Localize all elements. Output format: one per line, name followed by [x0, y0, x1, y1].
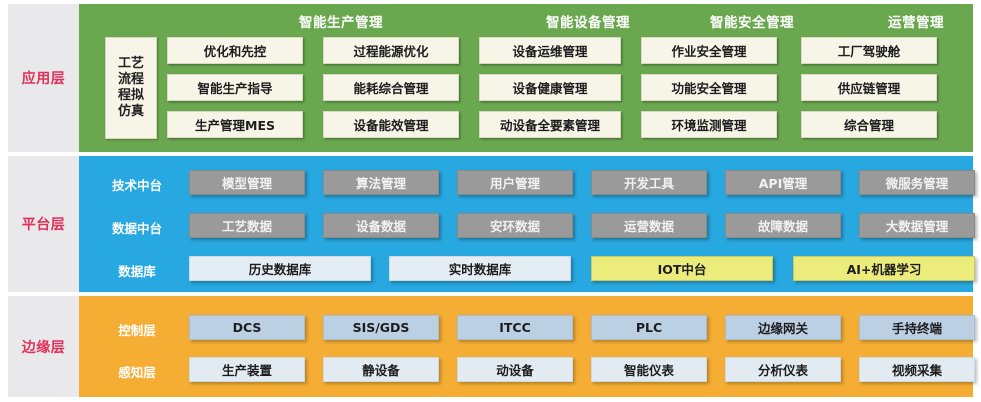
app-box[interactable]: 环境监测管理 [641, 111, 777, 138]
layer-label-application: 应用层 [8, 4, 79, 152]
platform-box[interactable]: API管理 [725, 170, 841, 195]
app-box[interactable]: 设备运维管理 [479, 37, 621, 64]
row-label-database: 数据库 [101, 261, 173, 280]
application-grid: 工艺 流程 程拟 仿真 优化和先控 智能生产指导 生产管理MES 过程能源优化 … [79, 37, 973, 144]
platform-box[interactable]: 故障数据 [725, 213, 841, 238]
app-box[interactable]: 设备能效管理 [323, 111, 459, 138]
iot-platform-box[interactable]: IOT中台 [591, 256, 773, 281]
control-box[interactable]: 边缘网关 [725, 315, 841, 340]
group-title-smart-equipment: 智能设备管理 [503, 11, 673, 31]
platform-box[interactable]: 安环数据 [457, 213, 573, 238]
layer-application: 应用层 智能生产管理 智能设备管理 智能安全管理 运营管理 工艺 流程 程拟 仿… [8, 4, 973, 152]
app-box[interactable]: 工厂驾驶舱 [801, 37, 937, 64]
row-label-data-platform: 数据中台 [101, 218, 173, 237]
sensing-box[interactable]: 视频采集 [859, 357, 975, 382]
sensing-box[interactable]: 动设备 [457, 357, 573, 382]
group-title-smart-safety: 智能安全管理 [667, 11, 837, 31]
app-box[interactable]: 智能生产指导 [167, 74, 303, 101]
layer-platform: 平台层 技术中台 数据中台 数据库 模型管理 算法管理 用户管理 开发工具 AP… [8, 156, 973, 292]
process-simulation-line-1: 工艺 [118, 56, 144, 72]
layer-body-edge: 控制层 感知层 DCS SIS/GDS ITCC PLC 边缘网关 手持终端 生… [79, 296, 973, 397]
row-label-sensing: 感知层 [101, 362, 173, 381]
sensing-box[interactable]: 静设备 [323, 357, 439, 382]
app-box[interactable]: 设备健康管理 [479, 74, 621, 101]
process-simulation-line-2: 流程 [118, 72, 144, 88]
app-box[interactable]: 功能安全管理 [641, 74, 777, 101]
architecture-diagram: 应用层 智能生产管理 智能设备管理 智能安全管理 运营管理 工艺 流程 程拟 仿… [0, 0, 981, 402]
layer-label-edge: 边缘层 [8, 296, 79, 397]
app-box[interactable]: 生产管理MES [167, 111, 303, 138]
platform-box[interactable]: 大数据管理 [859, 213, 975, 238]
row-label-tech-platform: 技术中台 [101, 175, 173, 194]
control-box[interactable]: PLC [591, 315, 707, 340]
layer-body-platform: 技术中台 数据中台 数据库 模型管理 算法管理 用户管理 开发工具 API管理 … [79, 156, 973, 292]
sensing-box[interactable]: 智能仪表 [591, 357, 707, 382]
control-box[interactable]: ITCC [457, 315, 573, 340]
sensing-box[interactable]: 生产装置 [189, 357, 305, 382]
edge-rows: 控制层 感知层 DCS SIS/GDS ITCC PLC 边缘网关 手持终端 生… [79, 296, 973, 397]
app-box[interactable]: 能耗综合管理 [323, 74, 459, 101]
app-box[interactable]: 作业安全管理 [641, 37, 777, 64]
layer-label-platform: 平台层 [8, 156, 79, 292]
app-box[interactable]: 动设备全要素管理 [479, 111, 621, 138]
platform-rows: 技术中台 数据中台 数据库 模型管理 算法管理 用户管理 开发工具 API管理 … [79, 156, 973, 292]
platform-box[interactable]: 用户管理 [457, 170, 573, 195]
platform-box[interactable]: 模型管理 [189, 170, 305, 195]
process-simulation-line-3: 程拟 [118, 88, 144, 104]
application-group-titles: 智能生产管理 智能设备管理 智能安全管理 运营管理 [79, 11, 973, 33]
app-box[interactable]: 优化和先控 [167, 37, 303, 64]
control-box[interactable]: SIS/GDS [323, 315, 439, 340]
sensing-box[interactable]: 分析仪表 [725, 357, 841, 382]
layer-edge: 边缘层 控制层 感知层 DCS SIS/GDS ITCC PLC 边缘网关 手持… [8, 296, 973, 397]
platform-box[interactable]: 算法管理 [323, 170, 439, 195]
database-box[interactable]: 实时数据库 [389, 256, 571, 281]
app-box[interactable]: 综合管理 [801, 111, 937, 138]
control-box[interactable]: DCS [189, 315, 305, 340]
group-title-smart-production: 智能生产管理 [231, 11, 451, 31]
platform-box[interactable]: 运营数据 [591, 213, 707, 238]
control-box[interactable]: 手持终端 [859, 315, 975, 340]
group-title-operations: 运营管理 [831, 11, 981, 31]
app-box[interactable]: 过程能源优化 [323, 37, 459, 64]
platform-box[interactable]: 开发工具 [591, 170, 707, 195]
row-label-control: 控制层 [101, 320, 173, 339]
layer-body-application: 智能生产管理 智能设备管理 智能安全管理 运营管理 工艺 流程 程拟 仿真 优化… [79, 4, 973, 152]
platform-box[interactable]: 微服务管理 [859, 170, 975, 195]
platform-box[interactable]: 工艺数据 [189, 213, 305, 238]
app-box[interactable]: 供应链管理 [801, 74, 937, 101]
ai-machine-learning-box[interactable]: AI+机器学习 [793, 256, 975, 281]
process-simulation-box[interactable]: 工艺 流程 程拟 仿真 [105, 37, 157, 139]
database-box[interactable]: 历史数据库 [189, 256, 371, 281]
process-simulation-line-4: 仿真 [118, 104, 144, 120]
platform-box[interactable]: 设备数据 [323, 213, 439, 238]
